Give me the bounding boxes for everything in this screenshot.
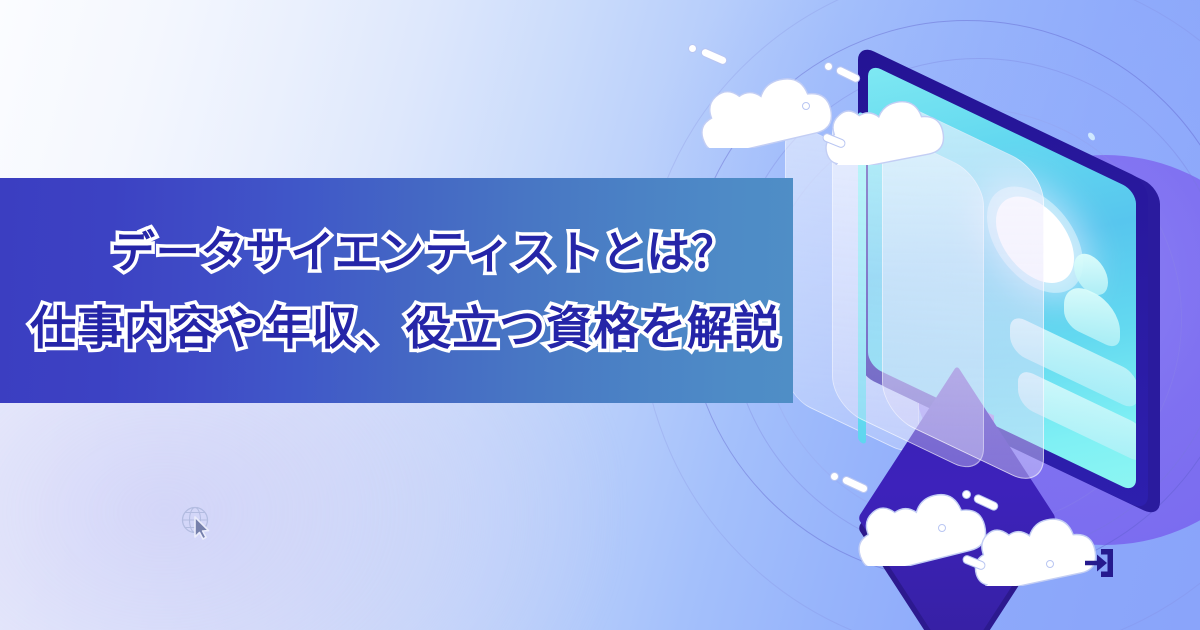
- title-banner: データサイエンティストとは？ 仕事内容や年収、役立つ資格を解説: [0, 178, 793, 403]
- login-arrow-icon[interactable]: [1082, 546, 1116, 580]
- page-title-line-1: データサイエンティストとは？: [24, 231, 775, 275]
- cloud-shape: [690, 58, 840, 148]
- webcam-dot-icon: [1088, 131, 1095, 141]
- globe-cursor-icon: [178, 503, 218, 543]
- cloud-shape: [820, 80, 950, 165]
- thumbnail-canvas: データサイエンティストとは？ 仕事内容や年収、役立つ資格を解説: [0, 0, 1200, 630]
- page-title-line-2: 仕事内容や年収、役立つ資格を解説: [24, 305, 775, 351]
